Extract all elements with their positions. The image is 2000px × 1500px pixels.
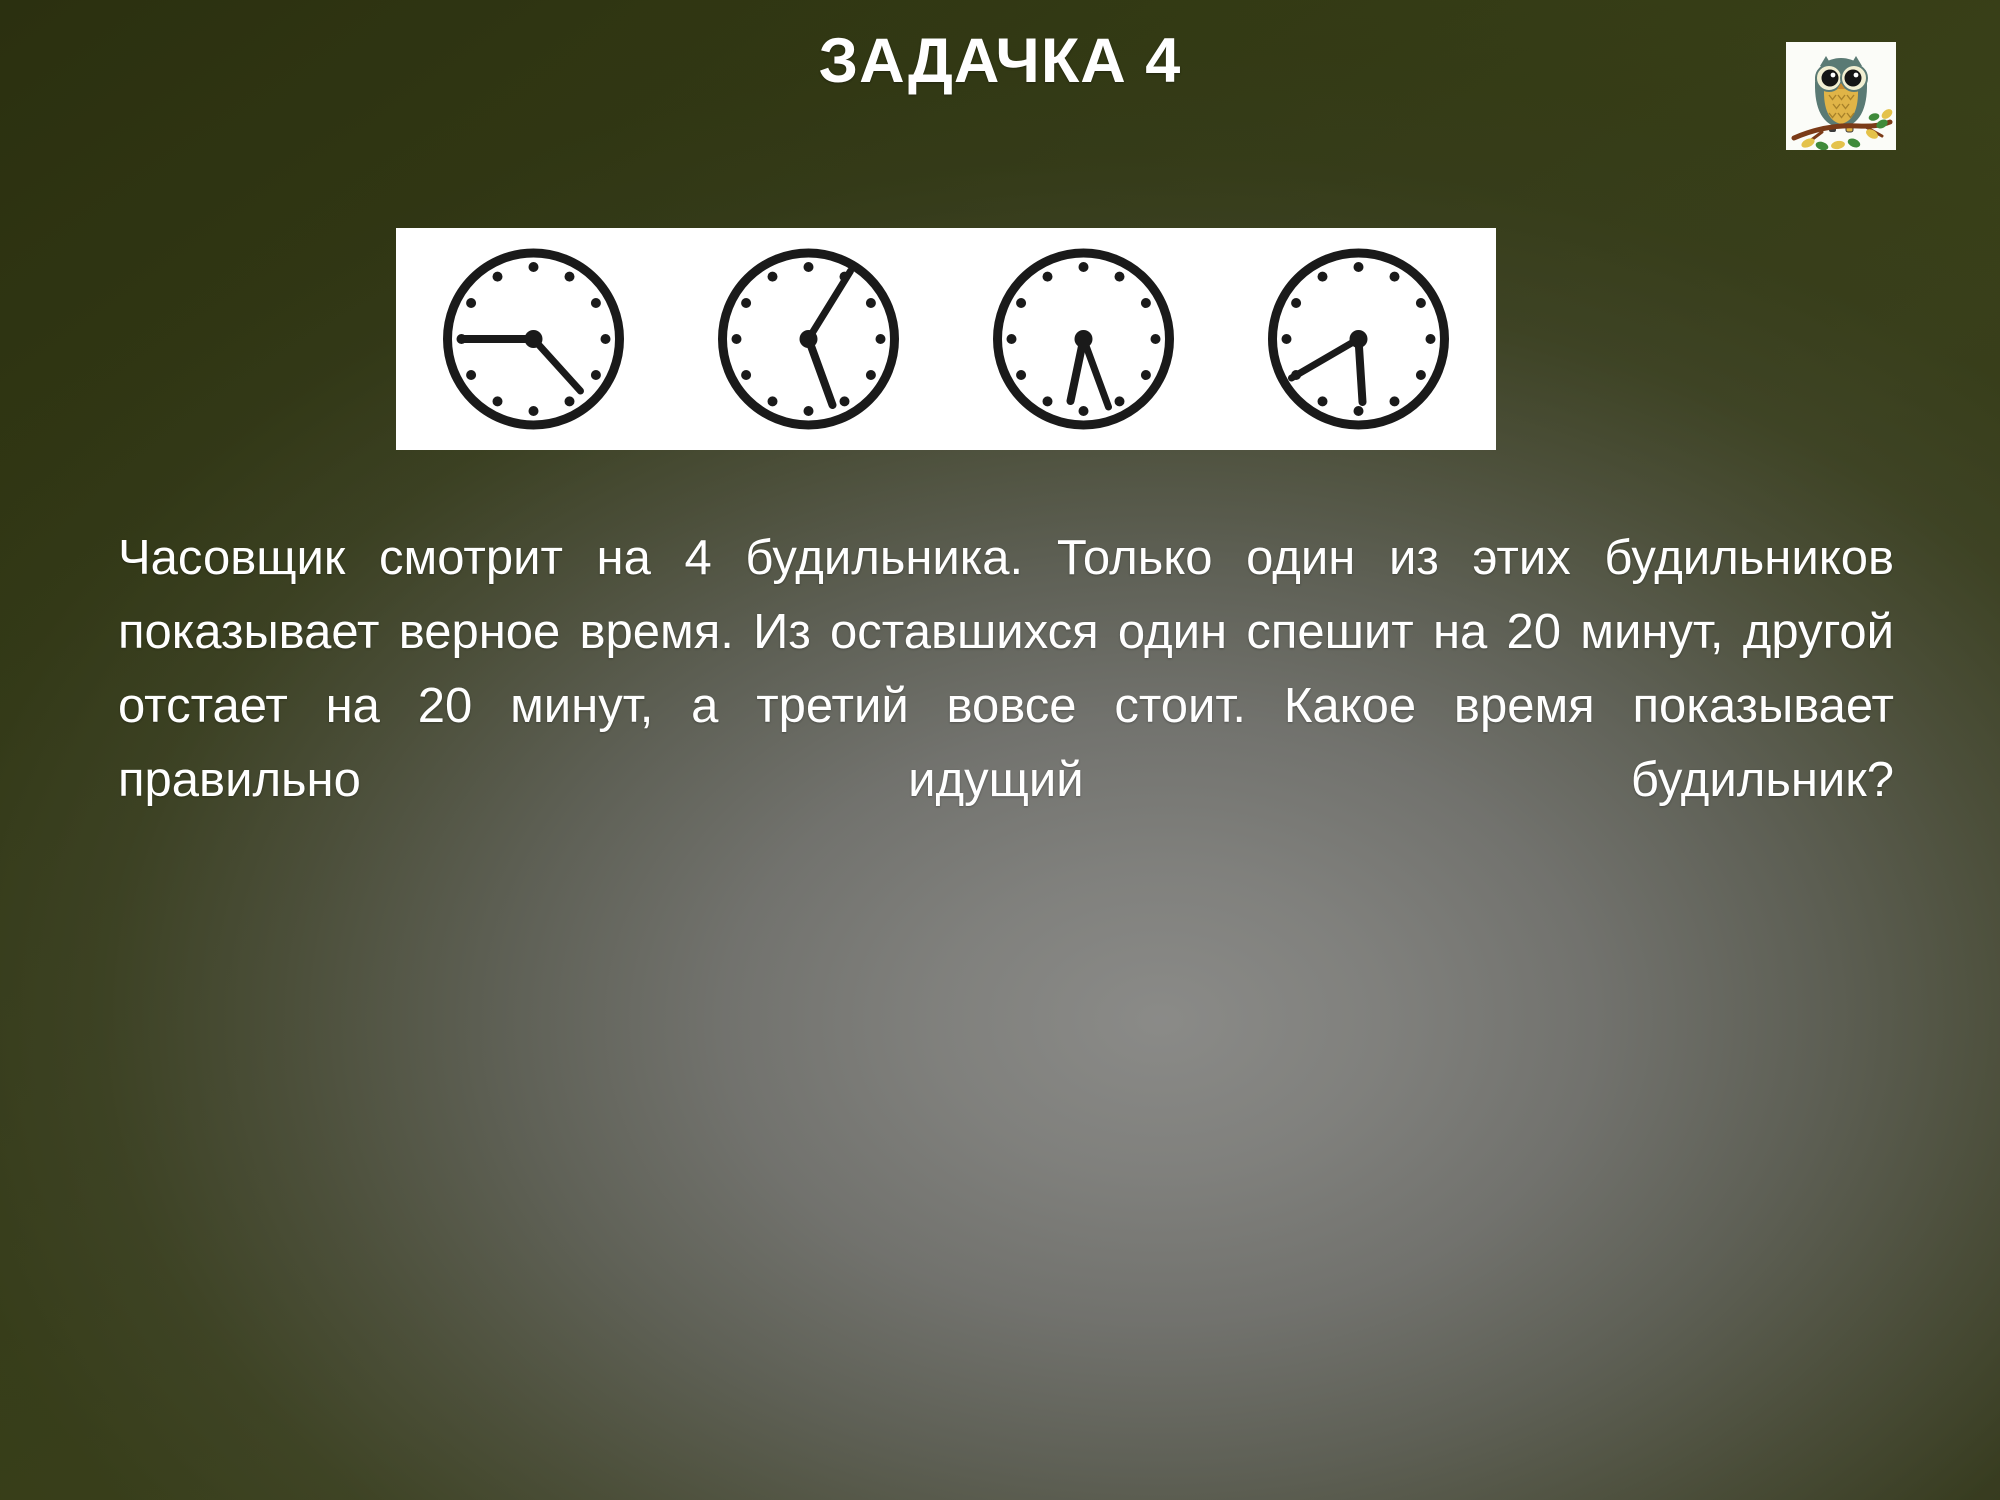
clock-1	[426, 239, 641, 439]
four-alarm-clocks-image	[396, 228, 1496, 450]
clock-2	[701, 239, 916, 439]
owl-logo	[1786, 42, 1896, 150]
presentation-slide: ЗАДАЧКА 4	[0, 0, 2000, 1500]
problem-statement-text: Часовщик смотрит на 4 будильника. Только…	[118, 521, 1894, 891]
clock-4	[1251, 239, 1466, 439]
page-title: ЗАДАЧКА 4	[0, 28, 2000, 94]
clock-3	[976, 239, 1191, 439]
